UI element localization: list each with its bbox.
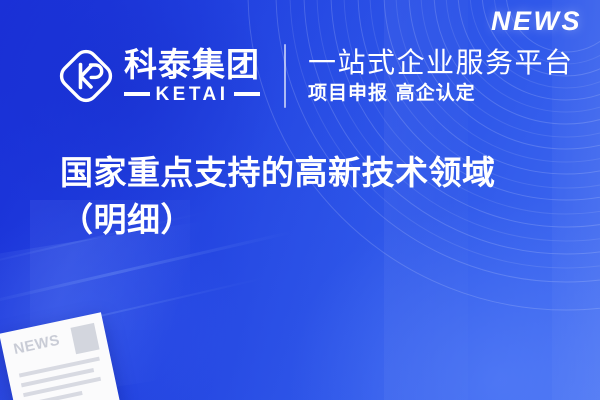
logo-name-en-row: KETAI <box>124 85 260 104</box>
slogan-block: 一站式企业服务平台 项目申报 高企认定 <box>308 47 574 105</box>
logo-name-en: KETAI <box>155 85 228 104</box>
newspaper-card-title: NEWS <box>12 333 61 357</box>
logo-wordmark: 科泰集团 KETAI <box>124 48 260 103</box>
logo-rule-right <box>234 92 260 96</box>
header-divider <box>284 44 286 108</box>
slogan-primary: 一站式企业服务平台 <box>308 47 574 79</box>
headline-title: 国家重点支持的高新技术领域（明细） <box>60 150 560 244</box>
news-wordmark: NEWS <box>491 6 582 37</box>
banner-header: 科泰集团 KETAI 一站式企业服务平台 项目申报 高企认定 <box>57 44 574 108</box>
company-logo[interactable]: 科泰集团 KETAI <box>57 47 260 105</box>
news-banner: NEWS 科泰集团 KETAI 一站式企业服务平台 项目申报 高企认定 <box>0 0 600 400</box>
logo-rule-left <box>124 92 150 96</box>
ketai-diamond-monogram-icon <box>57 47 115 105</box>
image-placeholder-icon <box>70 323 99 354</box>
logo-name-cn: 科泰集团 <box>124 48 260 82</box>
slogan-secondary: 项目申报 高企认定 <box>308 83 574 105</box>
